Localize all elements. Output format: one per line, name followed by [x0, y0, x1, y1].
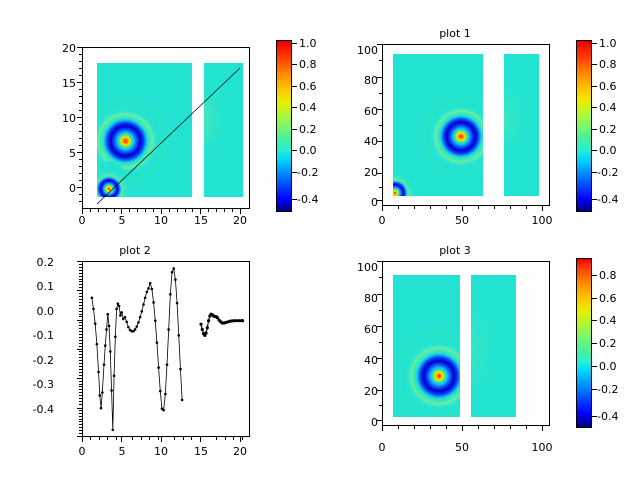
plot-2-marker [162, 409, 165, 412]
plot-2-marker [179, 368, 182, 371]
ytick-minor [79, 375, 82, 376]
plot-2-marker [108, 325, 111, 328]
ytick-minor [79, 351, 82, 352]
ytick-minor [79, 413, 82, 414]
xtick-minor [478, 426, 479, 429]
ytick-minor [79, 386, 82, 387]
plot-2-line-segment-1 [92, 268, 182, 429]
plot-2-marker [117, 302, 120, 305]
plot-2-marker [139, 316, 142, 319]
colorbar-label: 0.2 [599, 123, 617, 136]
xtick-minor [398, 426, 399, 429]
xtick-minor [174, 437, 175, 440]
ytick-label: 0 [40, 182, 76, 195]
plot-2-marker [177, 334, 180, 337]
ytick-label: 80 [342, 74, 378, 87]
ytick-minor [79, 145, 82, 146]
xtick-minor [149, 437, 150, 440]
plot-2-marker [104, 344, 107, 347]
heatmap-block-b [504, 54, 539, 195]
plot-2-marker [171, 271, 174, 274]
ytick [377, 326, 382, 327]
heatmap-block-b [471, 275, 516, 417]
ytick-label: 0.0 [16, 305, 54, 318]
ytick-minor [79, 75, 82, 76]
plot-top-left-axes[interactable] [82, 47, 250, 209]
xtick-minor [129, 209, 130, 212]
xtick-label: 100 [528, 441, 556, 454]
xtick-minor [510, 426, 511, 429]
colorbar-label: -0.2 [297, 166, 318, 179]
xtick-label: 15 [191, 445, 211, 458]
xtick-minor [141, 437, 142, 440]
xtick-minor [145, 209, 146, 212]
ytick-minor [79, 363, 82, 364]
plot-2-marker [91, 296, 94, 299]
plot-2-marker [157, 366, 160, 369]
xtick-minor [478, 206, 479, 209]
ytick-minor [79, 334, 82, 335]
ytick-label: 40 [342, 135, 378, 148]
xtick-minor [116, 437, 117, 440]
xtick-minor [494, 426, 495, 429]
ytick-minor [79, 424, 82, 425]
plot-2-line-svg [83, 262, 250, 437]
xtick-minor [398, 206, 399, 209]
colorbar-tick [292, 43, 297, 44]
colorbar-label: 1.0 [599, 37, 617, 50]
ytick-minor [79, 293, 82, 294]
ytick-minor [79, 354, 82, 355]
ytick-minor [79, 433, 82, 434]
xtick-label: 5 [112, 445, 132, 458]
ytick-minor [79, 331, 82, 332]
ytick-minor [79, 296, 82, 297]
colorbar-tick [292, 86, 297, 87]
ytick-label: 80 [342, 292, 378, 305]
plot-3-title: plot 3 [340, 244, 570, 257]
plot-2-marker [154, 319, 157, 322]
plot-2-marker [172, 267, 175, 270]
ytick-minor [79, 389, 82, 390]
ytick-minor [379, 310, 382, 311]
plot-2-marker [144, 296, 147, 299]
xtick-minor [114, 209, 115, 212]
ytick-minor [379, 405, 382, 406]
ytick-minor [79, 264, 82, 265]
ytick-minor [79, 173, 82, 174]
ytick-minor [79, 384, 82, 385]
ytick [377, 141, 382, 142]
ytick-minor [79, 131, 82, 132]
ytick-minor [79, 328, 82, 329]
xtick-minor [242, 437, 243, 440]
plot-2-marker [109, 350, 112, 353]
plot-2-marker [113, 375, 116, 378]
plot-2-marker [142, 303, 145, 306]
ytick-minor [79, 360, 82, 361]
ytick-minor [79, 166, 82, 167]
ytick-minor [79, 340, 82, 341]
colorbar-label: -0.2 [597, 166, 618, 179]
colorbar-label: 0.0 [599, 144, 617, 157]
xtick-label: 15 [191, 214, 211, 227]
colorbar-label: 0.8 [599, 58, 617, 71]
wave-source-1 [393, 312, 459, 417]
heatmap-block-a [393, 275, 459, 417]
xtick-minor [414, 426, 415, 429]
colorbar-label: 0.8 [599, 269, 617, 282]
ytick-minor [379, 93, 382, 94]
plot-1-axes[interactable] [382, 44, 550, 206]
ytick [77, 47, 82, 48]
ytick [377, 294, 382, 295]
ytick-minor [79, 366, 82, 367]
plot-2-axes[interactable] [82, 261, 250, 437]
ytick-minor [79, 419, 82, 420]
ytick-label: 0 [342, 416, 378, 429]
ytick-minor [79, 61, 82, 62]
panel-top-left: 20 15 10 5 0 0 5 10 15 20 [0, 0, 320, 240]
ytick [377, 200, 382, 201]
ytick [77, 378, 82, 379]
xtick-minor [446, 426, 447, 429]
ytick-minor [79, 316, 82, 317]
ytick-label: 10 [40, 112, 76, 125]
colorbar-tick [292, 129, 297, 130]
colorbar-tick [592, 343, 597, 344]
xtick [161, 437, 162, 442]
ytick-minor [79, 302, 82, 303]
ytick-minor [79, 281, 82, 282]
plot-2-marker [201, 328, 204, 331]
plot-2-marker [241, 319, 244, 322]
xtick-label: 10 [151, 445, 171, 458]
xtick [382, 426, 383, 431]
colorbar-tick [292, 107, 297, 108]
plot-2-marker [100, 407, 103, 410]
xtick-label: 50 [452, 441, 472, 454]
plot-2-marker [207, 319, 210, 322]
ytick-minor [79, 194, 82, 195]
ytick-minor [79, 381, 82, 382]
xtick-minor [232, 209, 233, 212]
plot-2-marker [147, 287, 150, 290]
plot-2-marker [141, 310, 144, 313]
ytick-minor [79, 311, 82, 312]
colorbar-label: 0.4 [599, 314, 617, 327]
xtick [82, 437, 83, 442]
ytick [377, 44, 382, 45]
colorbar-tick [592, 107, 597, 108]
xtick [462, 426, 463, 431]
xtick-minor [90, 209, 91, 212]
xtick-minor [132, 437, 133, 440]
ytick-minor [79, 180, 82, 181]
ytick-label: 60 [342, 323, 378, 336]
ytick-minor [79, 103, 82, 104]
ytick-minor [79, 357, 82, 358]
ytick-label: 100 [342, 261, 378, 274]
xtick-minor [208, 209, 209, 212]
ytick [77, 117, 82, 118]
plot-2-marker [167, 328, 170, 331]
ytick-label: -0.3 [16, 378, 54, 391]
ytick-minor [79, 276, 82, 277]
xtick-minor [107, 437, 108, 440]
colorbar-top-left [276, 40, 292, 212]
ytick-minor [79, 273, 82, 274]
xtick-minor [494, 206, 495, 209]
plot-2-marker [96, 343, 99, 346]
ytick-minor [79, 287, 82, 288]
colorbar-tick [592, 298, 597, 299]
ytick-minor [79, 337, 82, 338]
plot-2-marker [206, 326, 209, 329]
ytick-minor [79, 401, 82, 402]
plot-2-marker [204, 331, 207, 334]
plot-2-marker [97, 371, 100, 374]
ytick-minor [79, 89, 82, 90]
ytick-label: 100 [342, 44, 378, 57]
ytick-minor [79, 372, 82, 373]
xtick [121, 209, 122, 214]
xtick [542, 206, 543, 211]
plot-2-marker [127, 326, 130, 329]
ytick-minor [79, 395, 82, 396]
ytick [77, 261, 82, 262]
ytick [377, 173, 382, 174]
plot-2-marker [134, 328, 137, 331]
ytick [377, 358, 382, 359]
colorbar-tick [592, 129, 597, 130]
ytick-minor [379, 374, 382, 375]
plot-2-marker [92, 308, 95, 311]
ytick [377, 261, 382, 262]
ytick [377, 390, 382, 391]
xtick [200, 209, 201, 214]
plot-2-marker [125, 321, 128, 324]
ytick [77, 152, 82, 153]
xtick-minor [99, 437, 100, 440]
plot-2-marker [156, 341, 159, 344]
ytick [77, 349, 82, 350]
xtick-label: 5 [112, 214, 132, 227]
plot-2-marker [105, 328, 108, 331]
plot-2-marker [112, 428, 115, 431]
plot-2-marker [110, 389, 113, 392]
xtick-minor [233, 437, 234, 440]
xtick-label: 0 [72, 445, 92, 458]
ytick-minor [379, 342, 382, 343]
ytick-minor [79, 159, 82, 160]
xtick [240, 209, 241, 214]
plot-2-marker [115, 308, 118, 311]
colorbar-tick [292, 150, 297, 151]
plot-2-marker [181, 399, 184, 402]
xtick-minor [430, 426, 431, 429]
plot-2-marker [119, 314, 122, 317]
ytick-minor [379, 60, 382, 61]
xtick-minor [216, 437, 217, 440]
colorbar-tick [592, 320, 597, 321]
ytick-minor [79, 54, 82, 55]
colorbar-label: 0.0 [599, 360, 617, 373]
plot-2-marker [94, 322, 97, 325]
xtick-minor [216, 209, 217, 212]
xtick-minor [98, 209, 99, 212]
xtick-minor [191, 437, 192, 440]
ytick-minor [79, 427, 82, 428]
xtick-label: 100 [528, 214, 556, 227]
plot-2-marker [120, 311, 123, 314]
colorbar-label: 0.2 [299, 123, 317, 136]
plot-2-marker [114, 336, 117, 339]
ytick-minor [79, 346, 82, 347]
overlay-diagonal-line [83, 48, 249, 208]
plot-2-marker [169, 293, 172, 296]
ytick-minor [79, 110, 82, 111]
xtick-minor [526, 206, 527, 209]
ytick-minor [79, 314, 82, 315]
xtick [462, 206, 463, 211]
ytick [377, 420, 382, 421]
colorbar-tick [292, 64, 297, 65]
ytick-label: 20 [342, 166, 378, 179]
wave-source-1 [393, 162, 415, 196]
ytick-minor [79, 124, 82, 125]
ytick-minor [79, 343, 82, 344]
xtick-minor [526, 426, 527, 429]
colorbar-tick [592, 64, 597, 65]
ytick-minor [379, 187, 382, 188]
xtick-minor [106, 209, 107, 212]
ytick-label: 0.2 [16, 256, 54, 269]
ytick-minor [79, 270, 82, 271]
xtick-label: 0 [72, 214, 92, 227]
colorbar-tick [592, 275, 597, 276]
ytick-minor [79, 398, 82, 399]
ytick-label: 15 [40, 77, 76, 90]
xtick-minor [169, 209, 170, 212]
plot-2-marker [164, 393, 167, 396]
ytick-label: 40 [342, 354, 378, 367]
xtick-label: 50 [452, 214, 472, 227]
ytick-minor [379, 125, 382, 126]
xtick-minor [224, 209, 225, 212]
plot-2-marker [151, 288, 154, 291]
ytick-minor [379, 157, 382, 158]
colorbar-tick [592, 43, 597, 44]
xtick-label: 0 [372, 214, 392, 227]
ytick [77, 82, 82, 83]
ytick-minor [79, 392, 82, 393]
xtick-minor [153, 209, 154, 212]
ytick-minor [79, 410, 82, 411]
plot-2-marker [159, 390, 162, 393]
ytick-minor [79, 267, 82, 268]
plot-2-marker [166, 363, 169, 366]
colorbar-label: 0.6 [599, 292, 617, 305]
xtick-label: 20 [230, 445, 250, 458]
ytick-label: 20 [40, 42, 76, 55]
colorbar-label: 0.0 [299, 144, 317, 157]
xtick-minor [185, 209, 186, 212]
plot-2-marker [174, 278, 177, 281]
xtick-minor [446, 206, 447, 209]
ytick-label: -0.2 [16, 354, 54, 367]
heatmap-block-a [393, 54, 483, 195]
xtick-minor [192, 209, 193, 212]
plot-2-marker [137, 321, 140, 324]
ytick-label: 0.1 [16, 280, 54, 293]
colorbar-plot-1 [576, 40, 592, 212]
xtick-minor [200, 437, 201, 440]
ytick-minor [379, 277, 382, 278]
xtick-minor [430, 206, 431, 209]
ytick-minor [79, 279, 82, 280]
xtick-minor [225, 437, 226, 440]
colorbar-plot-3 [576, 258, 592, 428]
plot-3-axes[interactable] [382, 261, 550, 426]
colorbar-label: 0.4 [599, 101, 617, 114]
xtick-label: 10 [151, 214, 171, 227]
colorbar-label: 0.4 [299, 101, 317, 114]
ytick [377, 77, 382, 78]
ytick-minor [79, 284, 82, 285]
xtick-minor [510, 206, 511, 209]
ytick-label: 5 [40, 147, 76, 160]
colorbar-label: 0.8 [299, 58, 317, 71]
ytick-minor [79, 369, 82, 370]
ytick-minor [79, 430, 82, 431]
colorbar-label: 0.2 [599, 337, 617, 350]
ytick-minor [79, 325, 82, 326]
plot-2-title: plot 2 [20, 244, 250, 257]
xtick-label: 20 [230, 214, 250, 227]
ytick-minor [79, 138, 82, 139]
panel-top-right: plot 1 100 80 60 40 20 0 0 50 100 [320, 0, 640, 240]
ytick-label: 20 [342, 385, 378, 398]
plot-2-marker [152, 301, 155, 304]
plot-2-marker [199, 323, 202, 326]
ytick-label: 0 [342, 196, 378, 209]
ytick-minor [79, 68, 82, 69]
ytick [77, 290, 82, 291]
xtick-minor [137, 209, 138, 212]
ytick-minor [79, 299, 82, 300]
ytick-minor [79, 416, 82, 417]
ytick [77, 320, 82, 321]
plot-2-marker [149, 282, 152, 285]
ytick-label: 60 [342, 105, 378, 118]
plot-2-marker [101, 391, 104, 394]
ytick-minor [79, 308, 82, 309]
colorbar-label: -0.2 [597, 383, 618, 396]
plot-2-marker [99, 394, 102, 397]
xtick [382, 206, 383, 211]
ytick-minor [79, 305, 82, 306]
colorbar-tick [592, 86, 597, 87]
ytick [377, 109, 382, 110]
ytick-label: -0.4 [16, 403, 54, 416]
plot-2-marker [146, 291, 149, 294]
ytick-label: -0.1 [16, 329, 54, 342]
ytick-minor [79, 404, 82, 405]
plot-2-marker [176, 302, 179, 305]
plot-2-marker [106, 313, 109, 316]
xtick-minor [177, 209, 178, 212]
